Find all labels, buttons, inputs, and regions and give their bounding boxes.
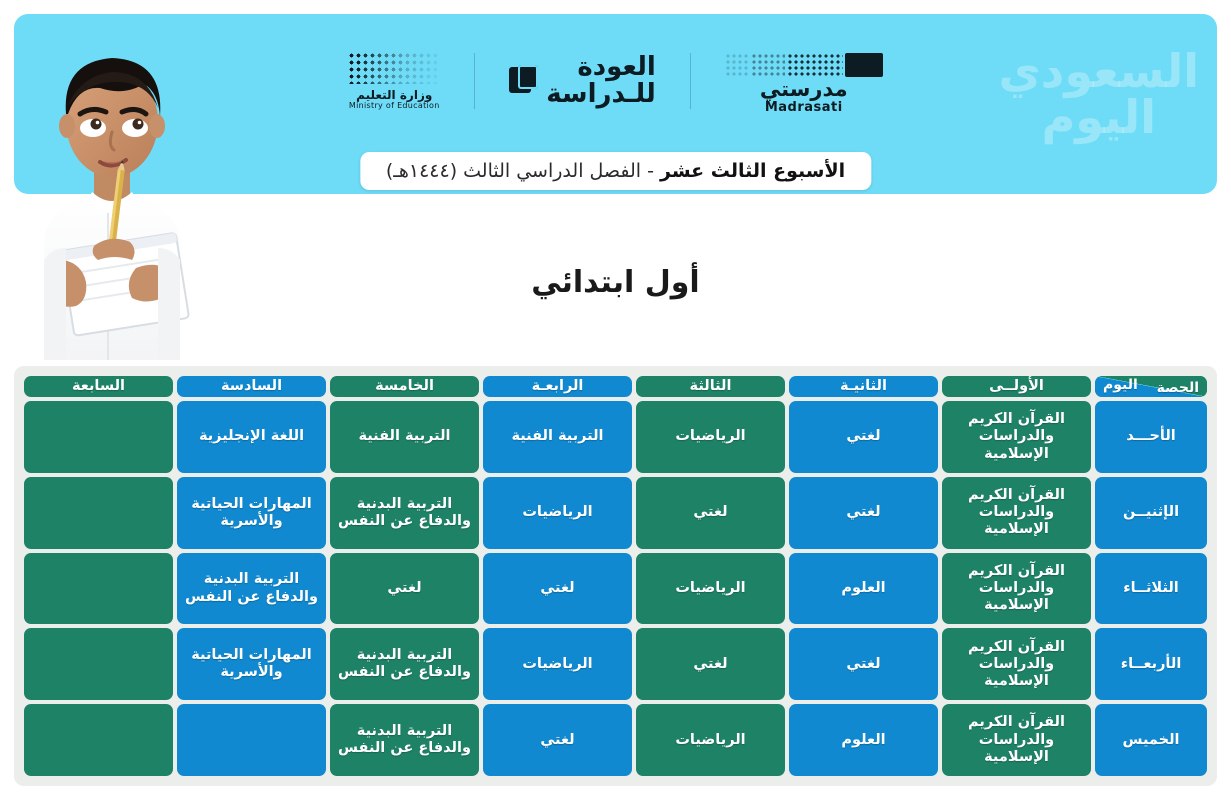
period-header-3[interactable]: الثالثة	[636, 376, 785, 397]
period-header-6[interactable]: السادسة	[177, 376, 326, 397]
subject-cell-r3-c3[interactable]: الرياضيات	[636, 553, 785, 625]
subject-cell-r2-c5[interactable]: التربية البدنية والدفاع عن النفس	[330, 477, 479, 549]
period-header-2[interactable]: الثانيـة	[789, 376, 938, 397]
week-badge-rest: - الفصل الدراسي الثالث (١٤٤٤هـ)	[386, 160, 654, 182]
subject-cell-r4-c2[interactable]: لغتي	[789, 628, 938, 700]
schedule-table: الحصةاليومالأولــىالثانيـةالثالثةالرابعـ…	[20, 372, 1211, 780]
schedule-row: الأربعــاءالقرآن الكريم والدراسات الإسلا…	[24, 628, 1207, 700]
subject-cell-r1-c1[interactable]: القرآن الكريم والدراسات الإسلامية	[942, 401, 1091, 473]
subject-cell-r1-c3[interactable]: الرياضيات	[636, 401, 785, 473]
back-to-school-line2: للـدراسة	[546, 81, 656, 108]
day-label-5[interactable]: الخميس	[1095, 704, 1207, 776]
subject-cell-r1-c4[interactable]: التربية الفنية	[483, 401, 632, 473]
corner-period-label: الحصة	[1157, 380, 1199, 397]
logos-row: مدرستي Madrasati العودة للـدراسة وزارة ا…	[14, 40, 1217, 122]
book-icon	[509, 65, 539, 97]
period-header-1[interactable]: الأولــى	[942, 376, 1091, 397]
schedule-card: السعودي اليوم الحصةاليومالأولــىالثانيـة…	[14, 366, 1217, 786]
subject-cell-r5-c4[interactable]: لغتي	[483, 704, 632, 776]
subject-cell-r3-c5[interactable]: لغتي	[330, 553, 479, 625]
ministry-of-education-logo: وزارة التعليم Ministry of Education	[348, 52, 440, 111]
period-header-5[interactable]: الخامسة	[330, 376, 479, 397]
logo-divider-2	[474, 53, 475, 109]
madrasati-logo: مدرستي Madrasati	[725, 49, 883, 114]
day-label-1[interactable]: الأحـــد	[1095, 401, 1207, 473]
madrasati-mark-icon	[725, 49, 883, 77]
corner-day-label: اليوم	[1103, 377, 1138, 394]
schedule-header-row: الحصةاليومالأولــىالثانيـةالثالثةالرابعـ…	[24, 376, 1207, 397]
subject-cell-r2-c6[interactable]: المهارات الحياتية والأسرية	[177, 477, 326, 549]
back-to-school-line1: العودة	[546, 54, 656, 81]
subject-cell-r1-c2[interactable]: لغتي	[789, 401, 938, 473]
subject-cell-r3-c4[interactable]: لغتي	[483, 553, 632, 625]
subject-cell-r3-c2[interactable]: العلوم	[789, 553, 938, 625]
subject-cell-r3-c1[interactable]: القرآن الكريم والدراسات الإسلامية	[942, 553, 1091, 625]
day-label-3[interactable]: الثلاثــاء	[1095, 553, 1207, 625]
ministry-dots-icon	[348, 52, 440, 84]
subject-cell-r1-c5[interactable]: التربية الفنية	[330, 401, 479, 473]
period-header-4[interactable]: الرابعـة	[483, 376, 632, 397]
subject-cell-r1-c7[interactable]	[24, 401, 173, 473]
subject-cell-r4-c4[interactable]: الرياضيات	[483, 628, 632, 700]
schedule-row: الخميسالقرآن الكريم والدراسات الإسلاميةا…	[24, 704, 1207, 776]
subject-cell-r5-c7[interactable]	[24, 704, 173, 776]
subject-cell-r4-c3[interactable]: لغتي	[636, 628, 785, 700]
subject-cell-r4-c7[interactable]	[24, 628, 173, 700]
week-badge: الأسبوع الثالث عشر - الفصل الدراسي الثال…	[360, 152, 871, 190]
schedule-header-row-group: الحصةاليومالأولــىالثانيـةالثالثةالرابعـ…	[24, 376, 1207, 397]
subject-cell-r5-c3[interactable]: الرياضيات	[636, 704, 785, 776]
subject-cell-r2-c7[interactable]	[24, 477, 173, 549]
day-label-4[interactable]: الأربعــاء	[1095, 628, 1207, 700]
madrasati-english-label: Madrasati	[765, 101, 843, 114]
subject-cell-r1-c6[interactable]: اللغة الإنجليزية	[177, 401, 326, 473]
subject-cell-r3-c6[interactable]: التربية البدنية والدفاع عن النفس	[177, 553, 326, 625]
subject-cell-r2-c1[interactable]: القرآن الكريم والدراسات الإسلامية	[942, 477, 1091, 549]
subject-cell-r2-c4[interactable]: الرياضيات	[483, 477, 632, 549]
subject-cell-r4-c1[interactable]: القرآن الكريم والدراسات الإسلامية	[942, 628, 1091, 700]
schedule-row: الثلاثــاءالقرآن الكريم والدراسات الإسلا…	[24, 553, 1207, 625]
subject-cell-r5-c6[interactable]	[177, 704, 326, 776]
subject-cell-r5-c1[interactable]: القرآن الكريم والدراسات الإسلامية	[942, 704, 1091, 776]
logo-divider-1	[690, 53, 691, 109]
subject-cell-r4-c6[interactable]: المهارات الحياتية والأسرية	[177, 628, 326, 700]
schedule-body: الأحـــدالقرآن الكريم والدراسات الإسلامي…	[24, 401, 1207, 776]
subject-cell-r5-c5[interactable]: التربية البدنية والدفاع عن النفس	[330, 704, 479, 776]
subject-cell-r4-c5[interactable]: التربية البدنية والدفاع عن النفس	[330, 628, 479, 700]
period-header-7[interactable]: السابعة	[24, 376, 173, 397]
schedule-row: الإثنيــنالقرآن الكريم والدراسات الإسلام…	[24, 477, 1207, 549]
corner-header-cell: الحصةاليوم	[1095, 376, 1207, 397]
subject-cell-r5-c2[interactable]: العلوم	[789, 704, 938, 776]
subject-cell-r2-c2[interactable]: لغتي	[789, 477, 938, 549]
ministry-arabic-label: وزارة التعليم	[356, 89, 432, 102]
schedule-row: الأحـــدالقرآن الكريم والدراسات الإسلامي…	[24, 401, 1207, 473]
page-title: أول ابتدائي	[0, 265, 1231, 300]
madrasati-arabic-label: مدرستي	[760, 79, 848, 100]
back-to-school-logo: العودة للـدراسة	[509, 54, 656, 109]
week-badge-bold: الأسبوع الثالث عشر	[660, 160, 845, 182]
day-label-2[interactable]: الإثنيــن	[1095, 477, 1207, 549]
subject-cell-r2-c3[interactable]: لغتي	[636, 477, 785, 549]
ministry-english-label: Ministry of Education	[349, 102, 440, 111]
subject-cell-r3-c7[interactable]	[24, 553, 173, 625]
